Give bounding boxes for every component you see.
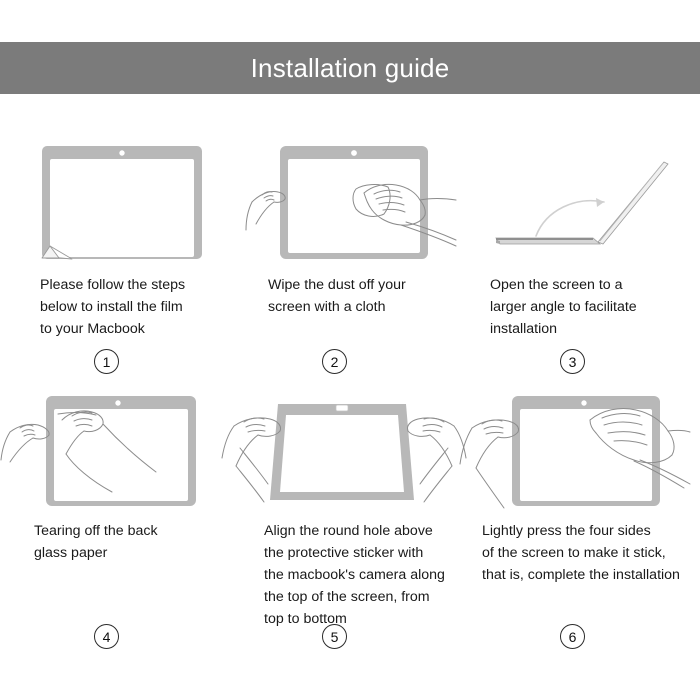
step-number-badge-6: 6 bbox=[560, 624, 585, 649]
header-band: Installation guide bbox=[0, 42, 700, 94]
page-title: Installation guide bbox=[251, 55, 450, 81]
step-number-badge-4: 4 bbox=[94, 624, 119, 649]
step-3: Open the screen to a larger angle to fac… bbox=[478, 140, 688, 340]
step-6-caption: Lightly press the four sides of the scre… bbox=[482, 520, 690, 586]
step-5: Align the round hole above the protectiv… bbox=[238, 388, 450, 630]
step-4: Tearing off the back glass paper bbox=[8, 388, 220, 564]
installation-guide-page: Installation guide Please follow the ste… bbox=[0, 0, 700, 700]
step-2-caption: Wipe the dust off your screen with a clo… bbox=[268, 274, 456, 318]
step-5-caption: Align the round hole above the protectiv… bbox=[264, 520, 450, 630]
step-number-badge-2: 2 bbox=[322, 349, 347, 374]
step-6: Lightly press the four sides of the scre… bbox=[468, 388, 690, 586]
step-1-caption: Please follow the steps below to install… bbox=[40, 274, 228, 340]
step-number-badge-5: 5 bbox=[322, 624, 347, 649]
step-6-illustration bbox=[468, 388, 690, 508]
step-2-illustration bbox=[256, 140, 456, 260]
step-2: Wipe the dust off your screen with a clo… bbox=[256, 140, 456, 318]
step-number-badge-3: 3 bbox=[560, 349, 585, 374]
step-3-caption: Open the screen to a larger angle to fac… bbox=[490, 274, 688, 340]
step-5-illustration bbox=[238, 388, 450, 508]
step-number-badge-1: 1 bbox=[94, 349, 119, 374]
step-1: Please follow the steps below to install… bbox=[28, 140, 228, 340]
step-3-illustration bbox=[478, 140, 688, 260]
step-4-illustration bbox=[8, 388, 220, 508]
step-1-illustration bbox=[28, 140, 228, 260]
step-4-caption: Tearing off the back glass paper bbox=[34, 520, 220, 564]
